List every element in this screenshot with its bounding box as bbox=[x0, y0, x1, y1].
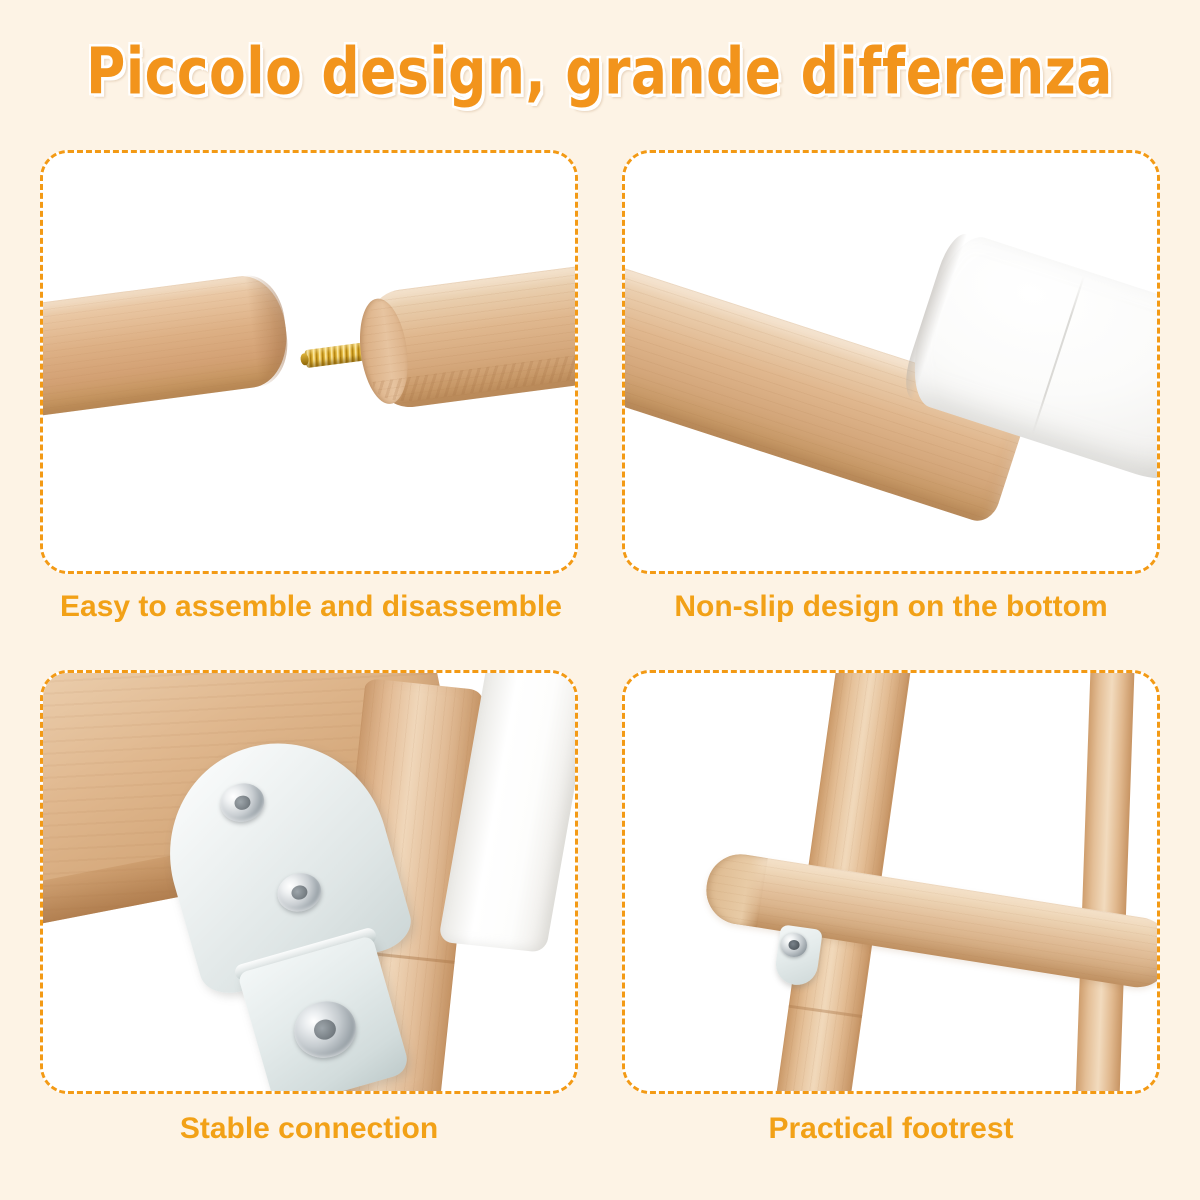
photo-metal-bracket-with-three-screws bbox=[43, 673, 575, 1091]
dowel-segment-right bbox=[355, 252, 578, 412]
page-title-area: Piccolo design, grande differenza bbox=[0, 26, 1200, 116]
screw-icon bbox=[781, 933, 807, 957]
page-title: Piccolo design, grande differenza bbox=[87, 34, 1114, 108]
chair-leg-vertical bbox=[1075, 670, 1135, 1094]
feature-panel-non-slip bbox=[622, 150, 1160, 574]
feature-panel-stable-connection bbox=[40, 670, 578, 1094]
feature-panel-footrest bbox=[622, 670, 1160, 1094]
caption-footrest: Practical footrest bbox=[622, 1112, 1160, 1146]
caption-stable-connection: Stable connection bbox=[40, 1112, 578, 1146]
caption-non-slip: Non-slip design on the bottom bbox=[622, 590, 1160, 624]
wood-grain-texture bbox=[40, 271, 293, 419]
photo-wooden-dowel-with-threaded-bolt bbox=[43, 153, 575, 571]
photo-leg-with-white-non-slip-cap bbox=[625, 153, 1157, 571]
feature-panel-assemble bbox=[40, 150, 578, 574]
cap-seam-line bbox=[1032, 276, 1085, 434]
photo-wooden-footrest-bar-joint bbox=[625, 673, 1157, 1091]
dowel-segment-left bbox=[40, 271, 293, 419]
caption-assemble: Easy to assemble and disassemble bbox=[40, 590, 578, 624]
